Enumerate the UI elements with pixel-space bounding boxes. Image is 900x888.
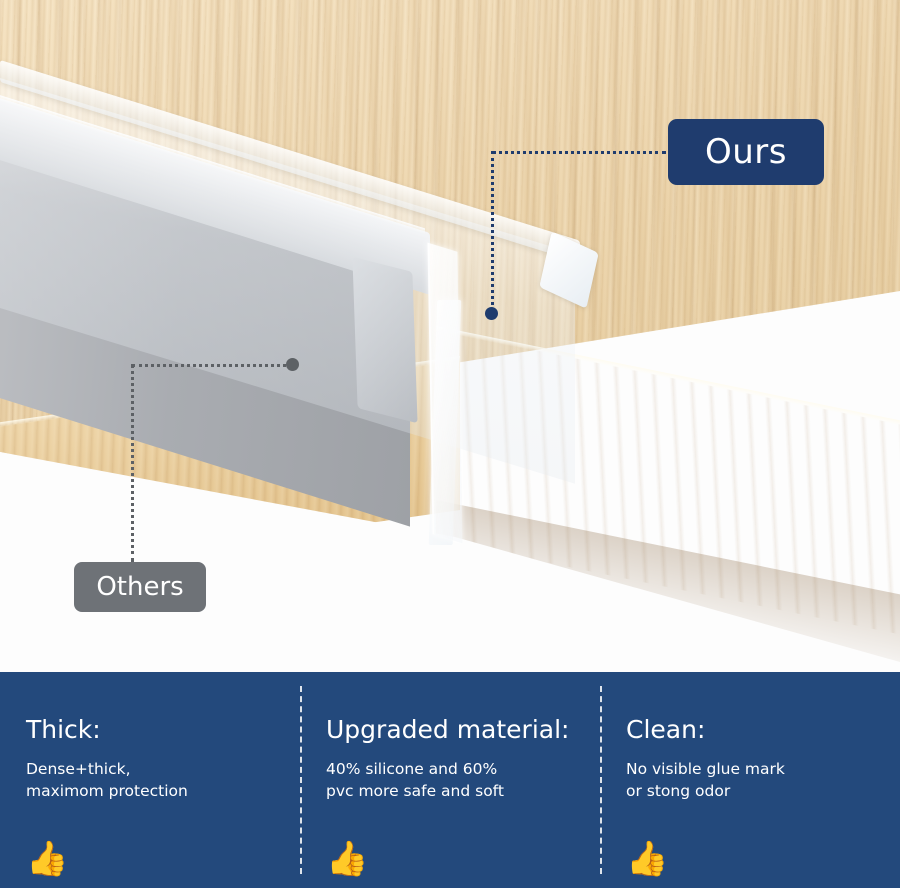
callout-label-others-text: Others xyxy=(96,572,183,602)
feature-description-line-1: 40% silicone and 60% xyxy=(326,758,556,780)
ours-leader-line-vertical xyxy=(491,151,494,311)
callout-label-ours-text: Ours xyxy=(705,132,787,172)
feature-description-line-2: or stong odor xyxy=(626,780,856,802)
feature-description-line-1: No visible glue mark xyxy=(626,758,856,780)
others-leader-line-vertical xyxy=(131,364,134,562)
ours-leader-line-horizontal xyxy=(492,151,666,154)
feature-description: 40% silicone and 60% pvc more safe and s… xyxy=(326,758,556,803)
feature-title: Upgraded material: xyxy=(326,716,578,744)
thumbs-up-icon: 👍 xyxy=(626,842,668,876)
feature-column-clean: Clean: No visible glue mark or stong odo… xyxy=(600,672,900,888)
feature-description: Dense+thick, maximom protection xyxy=(26,758,256,803)
callout-label-others: Others xyxy=(74,562,206,612)
others-leader-line-horizontal xyxy=(132,364,292,367)
feature-title: Clean: xyxy=(626,716,878,744)
feature-column-thick: Thick: Dense+thick, maximom protection 👍 xyxy=(0,672,300,888)
thumbs-up-icon: 👍 xyxy=(26,842,68,876)
product-photo: Ours Others xyxy=(0,0,900,672)
ours-leader-dot xyxy=(485,307,498,320)
feature-bar: Thick: Dense+thick, maximom protection 👍… xyxy=(0,672,900,888)
clear-edge-guard-corner-fold xyxy=(427,243,462,544)
feature-column-upgraded-material: Upgraded material: 40% silicone and 60% … xyxy=(300,672,600,888)
callout-label-ours: Ours xyxy=(668,119,824,185)
others-leader-dot xyxy=(286,358,299,371)
thumbs-up-icon: 👍 xyxy=(326,842,368,876)
product-infographic: Ours Others Thick: Dense+thick, maximom … xyxy=(0,0,900,888)
feature-description: No visible glue mark or stong odor xyxy=(626,758,856,803)
feature-description-line-1: Dense+thick, xyxy=(26,758,256,780)
feature-description-line-2: maximom protection xyxy=(26,780,256,802)
feature-description-line-2: pvc more safe and soft xyxy=(326,780,556,802)
feature-title: Thick: xyxy=(26,716,278,744)
